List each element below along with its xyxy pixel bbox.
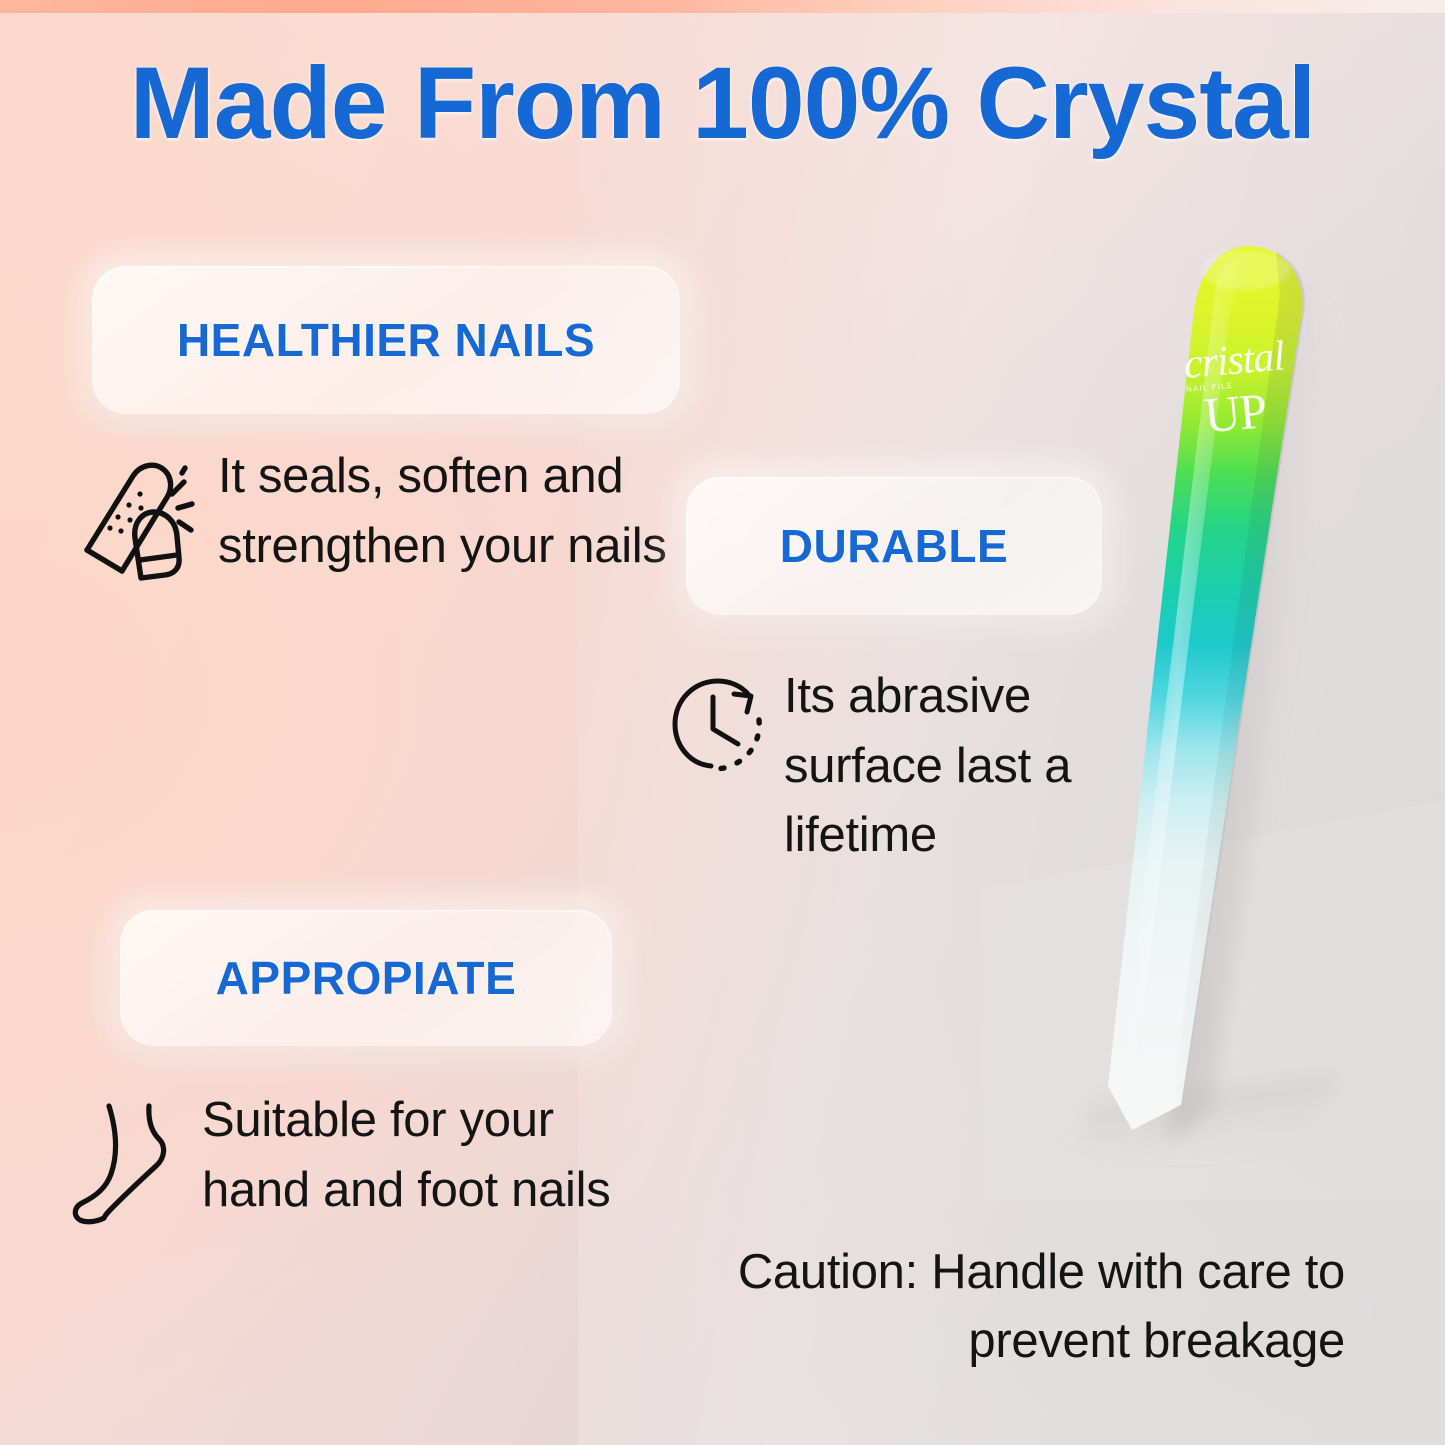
feature-appropiate-text: Suitable for your hand and foot nails (202, 1086, 630, 1225)
feature-durable: Its abrasive surface last a lifetime (668, 662, 1108, 871)
badge-appropiate-label: APPROPIATE (216, 951, 517, 1005)
brand-logo: cristal NAIL FILE UP (1182, 333, 1291, 444)
feature-healthier-nails-text: It seals, soften and strengthen your nai… (218, 442, 678, 581)
badge-healthier-nails-label: HEALTHIER NAILS (177, 313, 595, 367)
page-title: Made From 100% Crystal (0, 52, 1445, 154)
feature-durable-text: Its abrasive surface last a lifetime (784, 662, 1108, 871)
top-accent-strip (0, 0, 1445, 13)
svg-text:NAIL FILE: NAIL FILE (1186, 381, 1234, 394)
svg-text:cristal: cristal (1182, 333, 1286, 388)
clock-arrow-icon (668, 672, 766, 783)
svg-text:UP: UP (1202, 382, 1269, 443)
foot-icon (70, 1098, 182, 1233)
caution-note: Caution: Handle with care to prevent bre… (645, 1238, 1345, 1375)
badge-durable: DURABLE (686, 477, 1102, 615)
infographic-canvas: cristal NAIL FILE UP Made From 100% Crys… (0, 0, 1445, 1445)
badge-healthier-nails: HEALTHIER NAILS (92, 266, 680, 414)
badge-appropiate: APPROPIATE (120, 910, 612, 1046)
feature-healthier-nails: It seals, soften and strengthen your nai… (78, 442, 678, 589)
feature-appropiate: Suitable for your hand and foot nails (70, 1086, 630, 1233)
badge-durable-label: DURABLE (780, 519, 1008, 573)
nail-file-icon (78, 456, 196, 589)
